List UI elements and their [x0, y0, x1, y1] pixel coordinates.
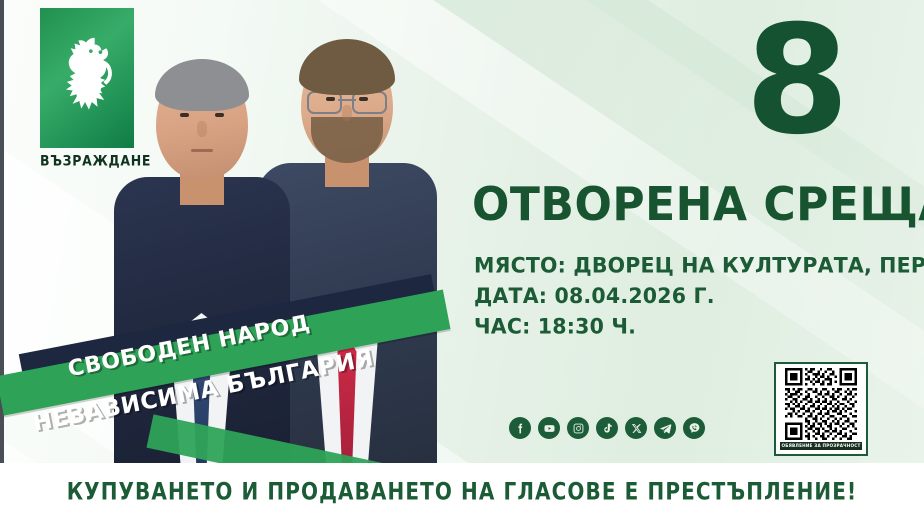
transparency-qr-block[interactable]: ОБЯВЛЕНИЕ ЗА ПРОЗРАЧНОСТ: [774, 362, 868, 456]
social-links[interactable]: [509, 417, 705, 439]
eye: [180, 113, 189, 117]
x-twitter-icon[interactable]: [625, 417, 647, 439]
telegram-icon[interactable]: [654, 417, 676, 439]
qr-caption: ОБЯВЛЕНИЕ ЗА ПРОЗРАЧНОСТ: [780, 442, 862, 450]
qr-code-icon[interactable]: [780, 368, 862, 440]
instagram-icon[interactable]: [567, 417, 589, 439]
legal-footer: КУПУВАНЕТО И ПРОДАВАНЕТО НА ГЛАСОВЕ Е ПР…: [0, 463, 924, 519]
event-details: МЯСТО: ДВОРЕЦ НА КУЛТУРАТА, ПЕРНИК ДАТА:…: [474, 250, 924, 343]
ribbon-accent: [146, 414, 398, 463]
ballot-number: 8: [745, 6, 849, 156]
event-date: ДАТА: 08.04.2026 Г.: [474, 281, 924, 312]
event-place: МЯСТО: ДВОРЕЦ НА КУЛТУРАТА, ПЕРНИК: [474, 250, 924, 281]
hair: [155, 59, 249, 111]
vote-buying-disclaimer: КУПУВАНЕТО И ПРОДАВАНЕТО НА ГЛАСОВЕ Е ПР…: [67, 477, 858, 505]
event-headline: ОТВОРЕНА СРЕЩА: [472, 182, 924, 229]
nose: [342, 105, 352, 121]
youtube-icon[interactable]: [538, 417, 560, 439]
beard: [311, 117, 383, 163]
nose: [197, 121, 207, 137]
eye: [215, 113, 224, 117]
mouth: [191, 149, 213, 152]
event-time: ЧАС: 18:30 Ч.: [474, 312, 924, 343]
tiktok-icon[interactable]: [596, 417, 618, 439]
viber-icon[interactable]: [683, 417, 705, 439]
eye: [326, 97, 335, 101]
poster-artwork: ВЪЗРАЖДАНЕ: [0, 0, 924, 463]
facebook-icon[interactable]: [509, 417, 531, 439]
eye: [359, 97, 368, 101]
campaign-poster: ВЪЗРАЖДАНЕ: [0, 0, 924, 519]
hair: [299, 39, 395, 95]
